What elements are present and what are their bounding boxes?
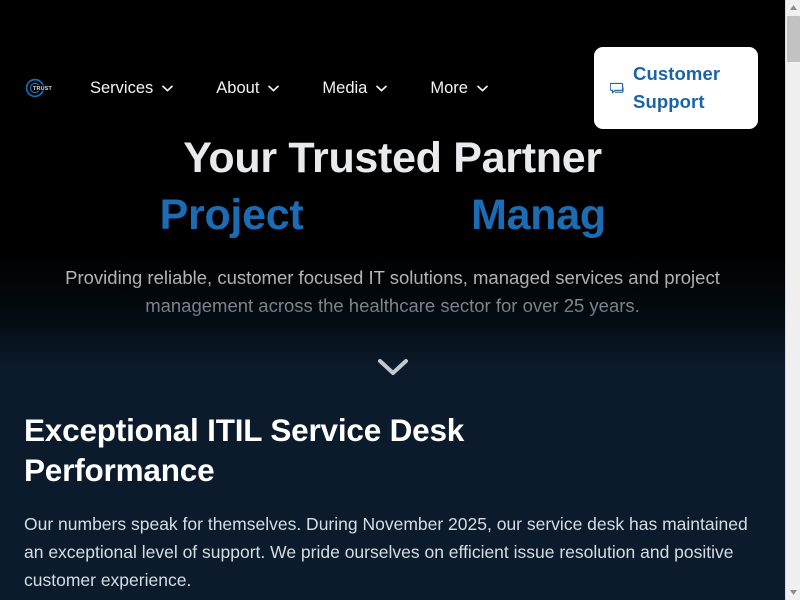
- customer-support-line1: Customer: [633, 63, 720, 84]
- hero-headline-line2: Project Manag: [0, 188, 785, 244]
- hero-headline-word-manag: Manag: [458, 188, 619, 244]
- nav-item-more[interactable]: More: [430, 77, 488, 99]
- scroll-down-cue[interactable]: [0, 355, 785, 379]
- nav-item-media[interactable]: Media: [322, 77, 387, 99]
- nav-item-more-label: More: [430, 77, 468, 99]
- hero-subtitle: Providing reliable, customer focused IT …: [13, 264, 773, 320]
- section-paragraph: Our numbers speak for themselves. During…: [24, 510, 754, 594]
- brand-logo[interactable]: TRUSTED: [24, 77, 52, 99]
- chevron-down-icon: [162, 85, 173, 92]
- customer-support-button-label: CustomerSupport: [633, 60, 720, 116]
- scrollbar-down-arrow[interactable]: [786, 585, 800, 600]
- scrollbar-thumb[interactable]: [787, 16, 800, 62]
- svg-text:TRUSTED: TRUSTED: [33, 86, 52, 92]
- triangle-down-icon: [789, 589, 798, 596]
- triangle-up-icon: [789, 4, 798, 11]
- nav-item-services-label: Services: [90, 77, 153, 99]
- page-scrollbar[interactable]: [785, 0, 800, 600]
- scrollbar-up-arrow[interactable]: [786, 0, 800, 15]
- hero-headline-word-manag-text: Manag: [471, 191, 606, 239]
- nav-item-media-label: Media: [322, 77, 367, 99]
- service-desk-performance-section: Exceptional ITIL Service Desk Performanc…: [0, 368, 785, 600]
- nav-item-about[interactable]: About: [216, 77, 279, 99]
- page-root: Your Trusted Partner Project Manag Provi…: [0, 0, 800, 600]
- hero-headline-word-project-text: Project: [162, 188, 303, 242]
- nav-item-about-label: About: [216, 77, 259, 99]
- hero-headline-word-project: Project: [162, 188, 310, 244]
- hero-headline-animated-row: Project Manag: [0, 188, 785, 244]
- section-heading: Exceptional ITIL Service Desk Performanc…: [24, 410, 624, 490]
- nav-links: Services About: [90, 77, 488, 99]
- customer-support-button[interactable]: CustomerSupport: [594, 47, 758, 129]
- hero-headline-line1: Your Trusted Partner: [0, 133, 785, 183]
- browser-viewport: Your Trusted Partner Project Manag Provi…: [0, 0, 785, 600]
- chevron-down-icon: [376, 85, 387, 92]
- chat-bubble-icon: [610, 82, 625, 97]
- nav-item-services[interactable]: Services: [90, 77, 173, 99]
- circular-ring-logo-icon: TRUSTED: [24, 77, 52, 99]
- chevron-down-icon: [477, 85, 488, 92]
- main-navbar: TRUSTED Services About: [0, 0, 785, 130]
- hero-section: Your Trusted Partner Project Manag Provi…: [0, 0, 785, 368]
- customer-support-line2: Support: [633, 91, 705, 112]
- chevron-down-icon: [268, 85, 279, 92]
- chevron-down-icon: [373, 355, 413, 379]
